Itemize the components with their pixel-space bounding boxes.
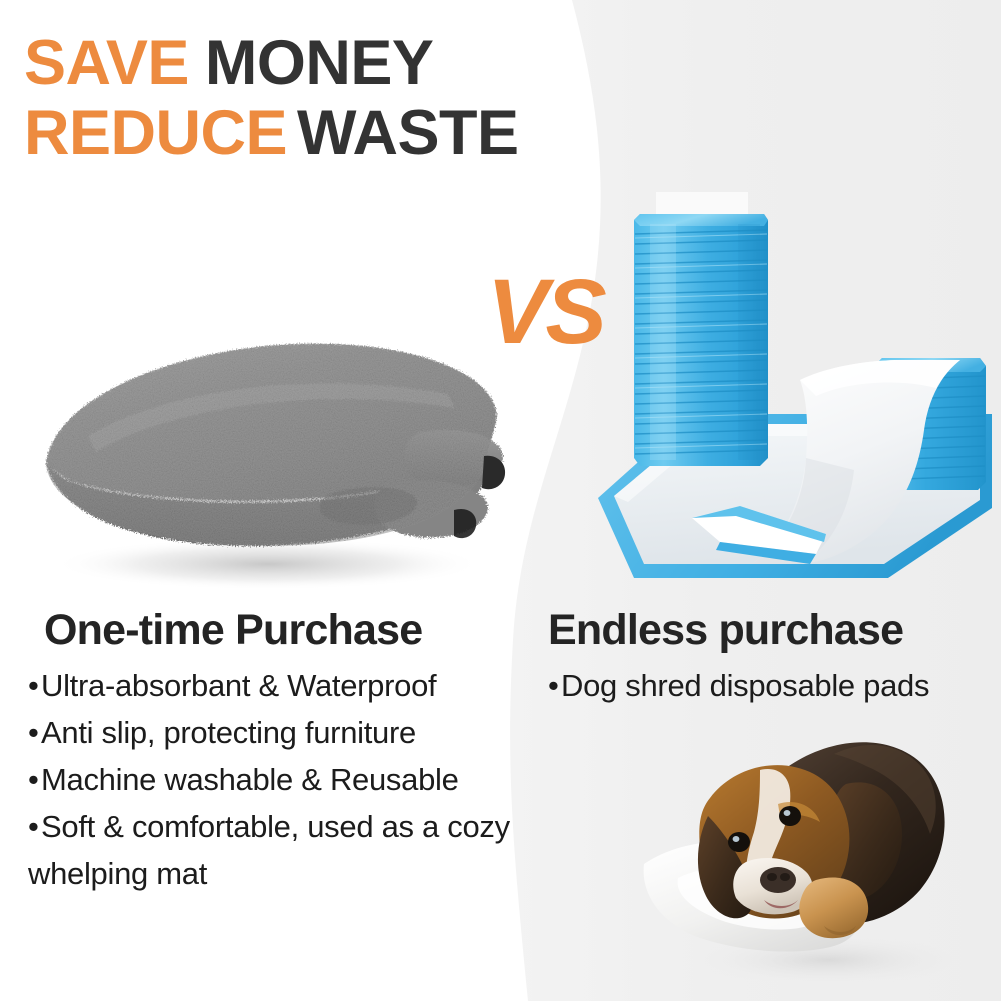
versus-label: VS xyxy=(487,266,604,358)
list-item-label: Anti slip, protecting furniture xyxy=(41,715,416,750)
list-item-label: Machine washable & Reusable xyxy=(41,762,459,797)
bullet-icon: • xyxy=(28,803,41,850)
puppy-paw xyxy=(799,878,868,939)
list-item-label: Ultra-absorbant & Waterproof xyxy=(41,668,436,703)
right-comparison-column: Endless purchase •Dog shred disposable p… xyxy=(548,608,988,709)
bullet-icon: • xyxy=(28,756,41,803)
headline-word-money: MONEY xyxy=(205,28,434,98)
list-item: •Soft & comfortable, used as a cozy whel… xyxy=(28,803,528,897)
list-item: •Machine washable & Reusable xyxy=(28,756,528,803)
blue-disposable-pads-image xyxy=(588,190,1000,590)
beagle-puppy-shredding-pad-image xyxy=(638,712,1000,998)
list-item-label: Dog shred disposable pads xyxy=(561,668,929,703)
left-feature-list: •Ultra-absorbant & Waterproof •Anti slip… xyxy=(28,662,528,898)
list-item: •Dog shred disposable pads xyxy=(548,662,988,709)
headline-word-reduce: REDUCE xyxy=(24,98,287,168)
headline-word-waste: WASTE xyxy=(297,98,519,168)
headline-line-2: REDUCEWASTE xyxy=(24,104,519,164)
bullet-icon: • xyxy=(28,709,41,756)
right-feature-list: •Dog shred disposable pads xyxy=(548,662,988,709)
list-item: •Anti slip, protecting furniture xyxy=(28,709,528,756)
left-column-heading: One-time Purchase xyxy=(28,608,528,654)
infographic-canvas: SAVEMONEY REDUCEWASTE VS xyxy=(0,0,1001,1001)
list-item-label: Soft & comfortable, used as a cozy whelp… xyxy=(28,809,510,891)
right-column-heading: Endless purchase xyxy=(548,608,988,654)
left-comparison-column: One-time Purchase •Ultra-absorbant & Wat… xyxy=(28,608,528,897)
folded-gray-fleece-pet-mat-image xyxy=(18,296,530,596)
bullet-icon: • xyxy=(28,662,41,709)
list-item: •Ultra-absorbant & Waterproof xyxy=(28,662,528,709)
bullet-icon: • xyxy=(548,662,561,709)
headline-word-save: SAVE xyxy=(24,28,189,98)
headline-line-1: SAVEMONEY xyxy=(24,34,519,94)
headline: SAVEMONEY REDUCEWASTE xyxy=(24,34,519,164)
pad-stack-tall xyxy=(634,214,768,466)
